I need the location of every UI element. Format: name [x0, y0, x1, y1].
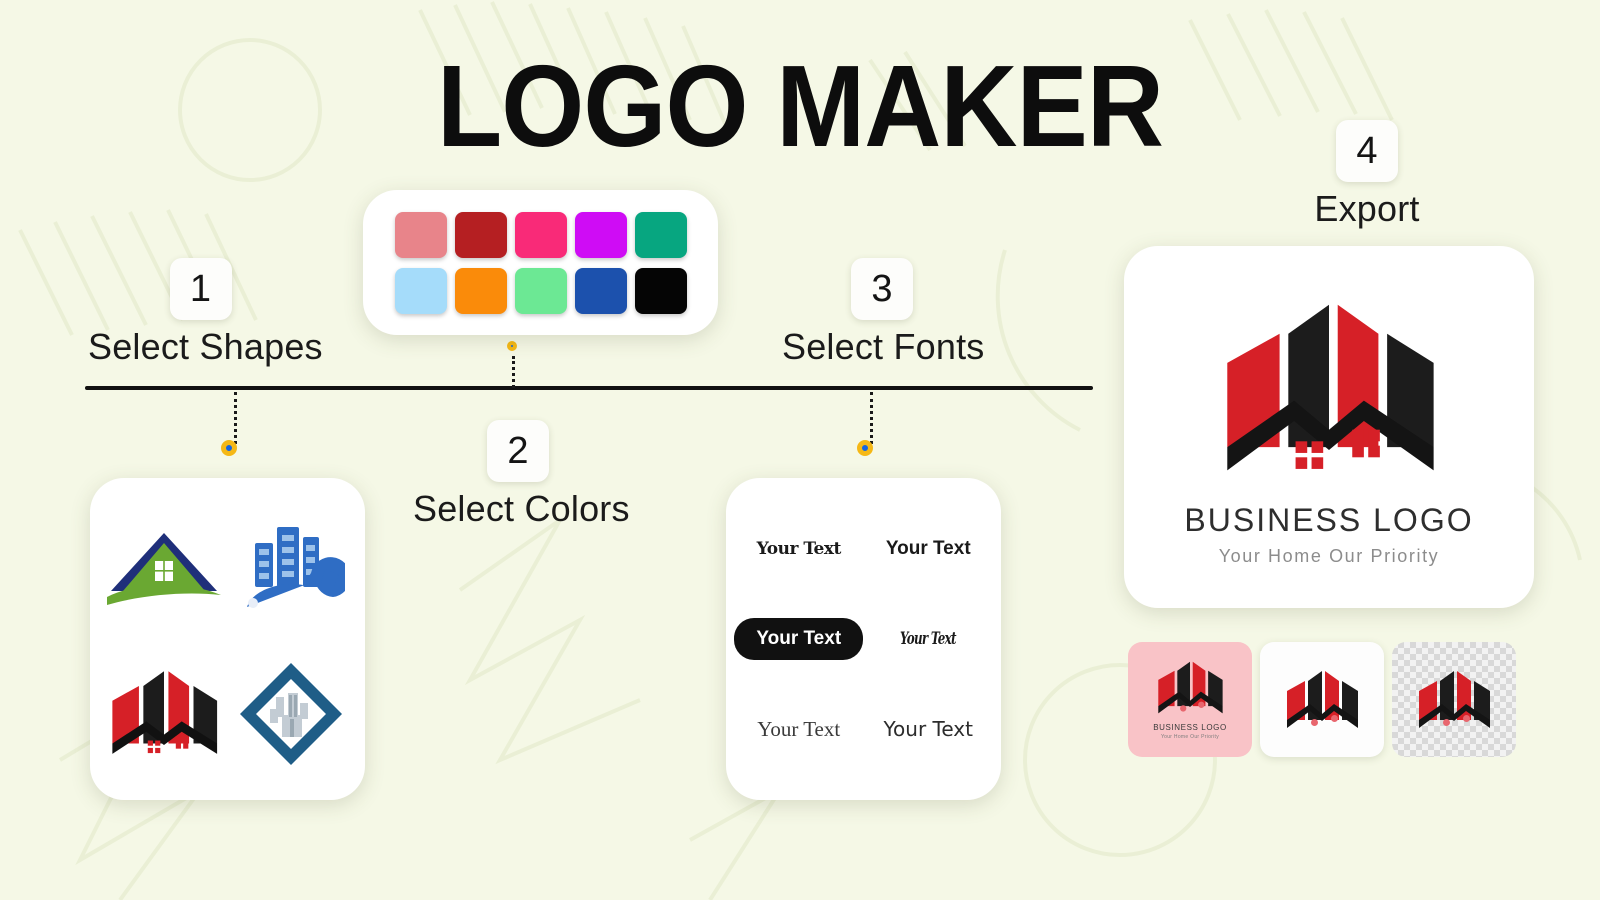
step-4-export[interactable]: 4 Export: [1262, 120, 1472, 230]
color-swatch-light-blue[interactable]: [395, 268, 447, 314]
step-3-label: Select Fonts: [782, 326, 982, 368]
step-1-badge: 1: [170, 258, 232, 320]
step-2-select-colors[interactable]: 2 Select Colors: [413, 420, 623, 530]
export-thumb-transparent-background[interactable]: [1392, 642, 1516, 757]
logo-mark-icon: [1281, 668, 1363, 732]
color-swatch-mint-green[interactable]: [515, 268, 567, 314]
step-3-connector: [870, 392, 873, 444]
color-swatch-royal-blue[interactable]: [575, 268, 627, 314]
font-option-script[interactable]: Your Text: [900, 629, 956, 649]
color-swatch-salmon-pink[interactable]: [395, 212, 447, 258]
logo-maker-screen: LOGO MAKER 1 Select Shapes 2 Select Colo…: [0, 0, 1600, 900]
export-thumbnails: BUSINESS LOGO Your Home Our Priority: [1128, 642, 1516, 757]
font-option-light[interactable]: Your Text: [883, 717, 973, 741]
font-option-bold[interactable]: Your Text: [886, 538, 971, 560]
font-option-sans-selected[interactable]: Your Text: [734, 618, 863, 660]
green-house-roof-icon: [105, 525, 223, 613]
export-thumb-white-background[interactable]: [1260, 642, 1384, 757]
export-thumb-pink-background[interactable]: BUSINESS LOGO Your Home Our Priority: [1128, 642, 1252, 757]
step-2-label: Select Colors: [413, 488, 623, 530]
step-2-node[interactable]: [507, 341, 517, 351]
logo-mark-icon: [1413, 668, 1495, 732]
font-option-serif[interactable]: Your Text: [757, 717, 840, 742]
color-swatch-magenta[interactable]: [575, 212, 627, 258]
colors-panel: [363, 190, 718, 335]
color-swatch-hot-pink[interactable]: [515, 212, 567, 258]
red-black-building-icon: [105, 664, 223, 764]
step-1-connector: [234, 392, 237, 444]
step-3-node[interactable]: [857, 440, 873, 456]
color-swatch-teal-green[interactable]: [635, 212, 687, 258]
timeline-track: [85, 386, 1093, 390]
font-option-slab[interactable]: Your Text: [757, 539, 841, 559]
color-swatch-orange[interactable]: [455, 268, 507, 314]
step-2-badge: 2: [487, 420, 549, 482]
shape-option-red-black-building[interactable]: [104, 654, 224, 774]
shape-option-blue-diamond-city[interactable]: [231, 654, 351, 774]
blue-diamond-city-icon: [236, 659, 346, 769]
logo-mark-icon: [1153, 659, 1227, 717]
step-3-badge: 3: [851, 258, 913, 320]
export-thumb-title: BUSINESS LOGO: [1153, 723, 1227, 732]
logo-mark-red-black-building-icon: [1211, 296, 1447, 482]
step-4-label: Export: [1262, 188, 1472, 230]
step-1-select-shapes[interactable]: 1 Select Shapes: [88, 258, 313, 368]
step-2-connector: [512, 356, 515, 388]
logo-tagline-text: Your Home Our Priority: [1219, 546, 1440, 567]
color-swatch-grid: [395, 212, 687, 314]
shape-option-blue-building-wrench[interactable]: [231, 509, 351, 629]
step-3-select-fonts[interactable]: 3 Select Fonts: [782, 258, 982, 368]
step-1-label: Select Shapes: [88, 326, 313, 368]
color-swatch-black[interactable]: [635, 268, 687, 314]
logo-name-text: BUSINESS LOGO: [1184, 502, 1473, 539]
logo-preview-panel[interactable]: BUSINESS LOGO Your Home Our Priority: [1124, 246, 1534, 608]
color-swatch-dark-red[interactable]: [455, 212, 507, 258]
shape-option-green-house-roof[interactable]: [104, 509, 224, 629]
export-thumb-tagline: Your Home Our Priority: [1161, 734, 1219, 740]
shapes-panel: [90, 478, 365, 800]
step-4-badge: 4: [1336, 120, 1398, 182]
step-1-node[interactable]: [221, 440, 237, 456]
fonts-panel: Your Text Your Text Your Text Your Text …: [726, 478, 1001, 800]
blue-building-wrench-icon: [237, 519, 345, 619]
